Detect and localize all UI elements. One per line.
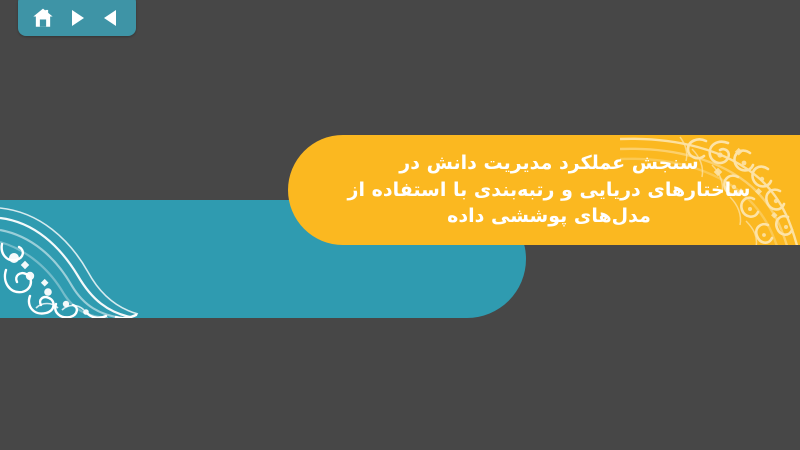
presentation-slide: سنجش عملکرد مدیریت دانش در ساختارهای دری…	[0, 0, 800, 450]
next-slide-button[interactable]	[63, 5, 91, 31]
previous-slide-button[interactable]	[97, 5, 125, 31]
home-icon	[32, 7, 54, 29]
triangle-right-icon	[67, 8, 87, 28]
slide-navigation-bar	[18, 0, 136, 36]
arabesque-corner-ornament-orange	[620, 135, 800, 245]
home-button[interactable]	[29, 5, 57, 31]
orange-title-banner	[288, 135, 800, 245]
arabesque-corner-ornament-teal	[0, 200, 190, 318]
triangle-left-icon	[101, 8, 121, 28]
